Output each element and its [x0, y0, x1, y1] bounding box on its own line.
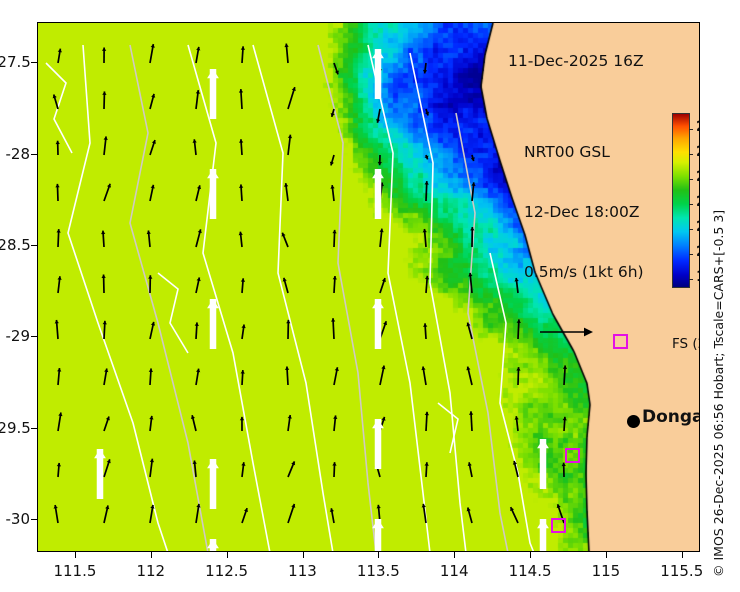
- bathymetry-contour: [46, 63, 72, 153]
- colorbar-tick-label: 24: [696, 144, 700, 160]
- map-plot-area[interactable]: 11-Dec-2025 16Z NRT00 GSL 12-Dec 18:00Z …: [37, 22, 700, 552]
- current-vector-small: [103, 321, 107, 324]
- current-vector-small: [193, 460, 197, 464]
- current-vector-small: [149, 416, 153, 420]
- y-tick-label: -27.5: [0, 53, 30, 71]
- current-vector-small: [378, 162, 382, 165]
- current-vector-small: [468, 273, 472, 277]
- current-vector-small: [147, 231, 151, 235]
- y-tick: [31, 428, 37, 429]
- current-vector-small: [240, 417, 244, 420]
- bathymetry-contour: [410, 53, 466, 552]
- current-vector-small: [195, 322, 199, 325]
- x-tick-label: 111.5: [40, 562, 110, 580]
- colorbar-gradient: [673, 114, 689, 287]
- current-vector-small: [517, 319, 521, 322]
- current-vector-small: [331, 318, 335, 321]
- current-vector-small: [102, 47, 106, 50]
- colorbar[interactable]: [672, 113, 690, 288]
- current-vector-small: [148, 275, 152, 278]
- colorbar-tick: [689, 254, 693, 255]
- current-vector-small: [196, 90, 200, 94]
- current-vector-major: [372, 169, 384, 178]
- current-vector-small: [101, 231, 105, 235]
- current-vector-small: [562, 463, 566, 466]
- current-vector-small: [377, 505, 381, 509]
- depth-contour-legend: 200m 1000m: [686, 520, 700, 552]
- current-vector-small: [425, 276, 429, 280]
- current-vector-small: [57, 276, 61, 280]
- colorbar-tick-label: 22: [696, 194, 700, 210]
- current-vector-small: [241, 46, 245, 50]
- current-vector-small: [56, 141, 60, 144]
- current-vector-small: [56, 229, 60, 232]
- colorbar-tick: [689, 204, 693, 205]
- current-vector-major: [372, 519, 384, 528]
- y-tick: [31, 62, 37, 63]
- current-vector-small: [285, 366, 289, 369]
- x-tick: [682, 552, 683, 558]
- bathymetry-contour: [318, 45, 376, 552]
- colorbar-tick-label: 25: [696, 119, 700, 135]
- colorbar-tick-label: 23: [696, 169, 700, 185]
- current-vector-small: [239, 184, 243, 188]
- x-tick: [151, 552, 152, 558]
- x-tick-label: 115: [571, 562, 641, 580]
- current-vector-major: [372, 299, 384, 308]
- y-tick: [31, 336, 37, 337]
- x-tick-label: 115.5: [647, 562, 717, 580]
- sst-map-figure: 11-Dec-2025 16Z NRT00 GSL 12-Dec 18:00Z …: [0, 0, 740, 592]
- current-vector-small: [514, 278, 518, 282]
- current-vector-small: [288, 87, 295, 109]
- current-vector-small: [239, 139, 243, 143]
- current-vector-small: [193, 139, 197, 143]
- colorbar-tick: [689, 129, 693, 130]
- current-vector-small: [55, 184, 59, 187]
- current-vector-small: [425, 412, 429, 415]
- x-tick: [75, 552, 76, 558]
- y-tick-label: -28: [0, 145, 30, 163]
- current-vector-small: [284, 44, 288, 48]
- current-vector-small: [423, 229, 427, 233]
- current-vector-small: [330, 185, 334, 189]
- colorbar-tick: [689, 154, 693, 155]
- y-tick: [31, 519, 37, 520]
- current-vector-major: [537, 439, 549, 448]
- current-vector-small: [332, 462, 336, 465]
- credit-text: © IMOS 26-Dec-2025 06:56 Hobart; Tscale=…: [711, 210, 726, 577]
- current-vector-small: [563, 417, 567, 421]
- current-vector-small: [379, 229, 383, 233]
- y-tick-label: -28.5: [0, 236, 30, 254]
- colorbar-tick-label: 21: [696, 219, 700, 235]
- x-tick: [227, 552, 228, 558]
- current-vector-small: [57, 368, 61, 372]
- current-vector-small: [241, 278, 245, 282]
- colorbar-tick: [689, 179, 693, 180]
- current-vector-major: [207, 169, 219, 178]
- current-vector-small: [288, 415, 292, 419]
- current-vector-small: [239, 89, 243, 92]
- x-tick-label: 113.5: [343, 562, 413, 580]
- current-vector-small: [471, 182, 475, 186]
- current-vector-small: [104, 136, 108, 140]
- current-vector-small: [425, 462, 429, 465]
- current-vector-small: [423, 70, 427, 74]
- current-vector-small: [149, 368, 153, 372]
- reference-arrow-icon: [538, 324, 598, 340]
- current-vector-major: [207, 459, 219, 468]
- source-line-model: NRT00 GSL: [524, 142, 644, 162]
- bathymetry-contour: [253, 45, 333, 552]
- x-tick-label: 114: [419, 562, 489, 580]
- current-vector-small: [241, 370, 245, 373]
- current-vector-small: [55, 320, 59, 324]
- x-tick: [378, 552, 379, 558]
- current-vector-small: [150, 459, 154, 463]
- y-tick: [31, 245, 37, 246]
- current-vector-major: [372, 49, 384, 58]
- x-tick-label: 112.5: [192, 562, 262, 580]
- bathymetry-contour: [456, 113, 508, 552]
- station-marker-legend[interactable]: [613, 334, 628, 349]
- station-marker-1[interactable]: [565, 448, 580, 463]
- bathymetry-contour: [68, 45, 168, 552]
- dongara-marker-dot: [627, 415, 640, 428]
- current-vector-small: [333, 415, 337, 419]
- x-tick-label: 113: [268, 562, 338, 580]
- x-tick-label: 112: [116, 562, 186, 580]
- station-marker-2[interactable]: [551, 518, 566, 533]
- current-vector-small: [423, 323, 427, 327]
- x-tick: [606, 552, 607, 558]
- y-tick-label: -30: [0, 510, 30, 528]
- current-vector-major: [207, 69, 219, 78]
- y-tick: [31, 154, 37, 155]
- x-tick: [303, 552, 304, 558]
- current-vector-small: [288, 135, 292, 139]
- colorbar-tick-label: 19: [696, 269, 700, 285]
- y-tick-label: -29.5: [0, 419, 30, 437]
- x-tick: [454, 552, 455, 558]
- current-vector-small: [239, 232, 243, 236]
- x-tick-label: 114.5: [495, 562, 565, 580]
- current-vector-small: [425, 181, 429, 184]
- current-vector-small: [102, 91, 106, 94]
- current-vector-small: [515, 416, 519, 420]
- current-vector-small: [101, 275, 105, 278]
- date-label: 11-Dec-2025 16Z: [508, 52, 644, 70]
- current-vector-small: [284, 183, 288, 187]
- y-tick-label: -29: [0, 327, 30, 345]
- colorbar-tick: [689, 279, 693, 280]
- current-vector-small: [516, 367, 520, 370]
- colorbar-tick: [689, 229, 693, 230]
- x-tick: [530, 552, 531, 558]
- dongara-place-label: Dongara: [642, 407, 700, 427]
- current-vector-small: [469, 411, 473, 414]
- current-vector-small: [333, 276, 337, 279]
- current-vector-major: [537, 519, 549, 528]
- current-vector-major: [207, 539, 219, 548]
- current-vector-small: [241, 462, 245, 466]
- current-vector-major: [94, 449, 106, 458]
- colorbar-tick-label: 20: [696, 244, 700, 260]
- source-line-scale: 0.5m/s (1kt 6h): [524, 262, 644, 282]
- source-line-valid: 12-Dec 18:00Z: [524, 202, 644, 222]
- station-legend-label: FS (2): [672, 336, 700, 352]
- bathymetry-contour: [188, 45, 270, 552]
- current-vector-small: [57, 463, 61, 467]
- current-vector-small: [332, 230, 336, 233]
